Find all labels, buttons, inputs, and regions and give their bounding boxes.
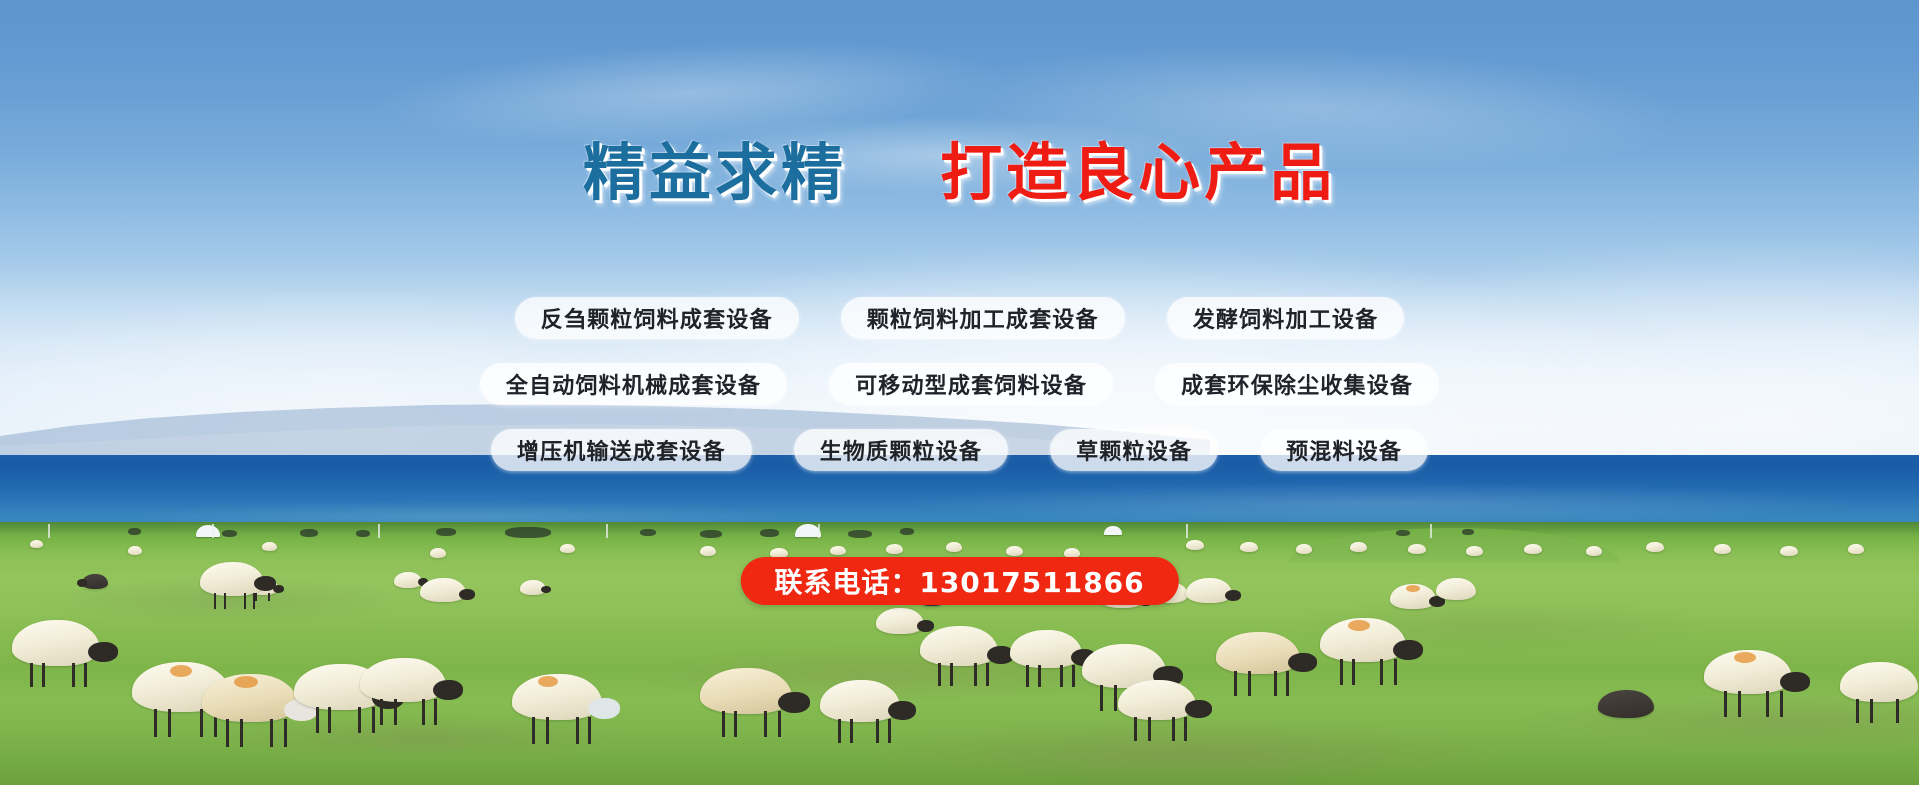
sheep (700, 668, 792, 714)
product-row-3: 增压机输送成套设备 生物质颗粒设备 草颗粒设备 预混料设备 (0, 429, 1919, 471)
distant-livestock (900, 528, 914, 535)
contact-phone-badge[interactable]: 联系电话：13017511866 (740, 557, 1178, 605)
distant-livestock (1462, 529, 1474, 535)
sheep (1840, 662, 1918, 702)
sheep (1598, 690, 1654, 718)
sheep (1350, 542, 1367, 552)
product-pill[interactable]: 全自动饲料机械成套设备 (480, 363, 787, 405)
headline-red-text: 打造良心产品 (940, 136, 1336, 209)
sheep (1216, 632, 1300, 674)
sheep (262, 542, 277, 551)
sheep (200, 562, 264, 596)
distant-livestock (1396, 530, 1410, 536)
sheep (1848, 544, 1864, 554)
product-row-2: 全自动饲料机械成套设备 可移动型成套饲料设备 成套环保除尘收集设备 (0, 363, 1919, 405)
product-pill[interactable]: 颗粒饲料加工成套设备 (841, 297, 1125, 339)
product-pill[interactable]: 生物质颗粒设备 (794, 429, 1008, 471)
promo-banner: 精益求精 打造良心产品 反刍颗粒饲料成套设备 颗粒饲料加工成套设备 发酵饲料加工… (0, 0, 1919, 785)
headline-blue-text: 精益求精 (583, 136, 847, 209)
product-row-1: 反刍颗粒饲料成套设备 颗粒饲料加工成套设备 发酵饲料加工设备 (0, 297, 1919, 339)
distant-livestock (300, 529, 318, 537)
sheep (1408, 544, 1426, 554)
sheep (202, 674, 298, 722)
sheep (430, 548, 446, 558)
sheep (830, 546, 846, 555)
product-pill[interactable]: 成套环保除尘收集设备 (1155, 363, 1439, 405)
fence-post (48, 524, 50, 538)
distant-livestock (848, 530, 872, 538)
sheep (1646, 542, 1664, 552)
sheep (12, 620, 100, 666)
sheep (82, 574, 108, 589)
fence-post (1186, 524, 1188, 538)
sheep (1296, 544, 1312, 554)
fence-post (212, 524, 214, 538)
sheep (360, 658, 446, 702)
product-pill[interactable]: 增压机输送成套设备 (491, 429, 752, 471)
distant-livestock (128, 528, 141, 535)
shoreline (0, 522, 1919, 540)
product-pill[interactable]: 反刍颗粒饲料成套设备 (515, 297, 799, 339)
distant-livestock (505, 527, 551, 538)
distant-livestock (356, 530, 370, 537)
distant-livestock (436, 528, 456, 536)
fence-post (606, 524, 608, 538)
sheep (886, 544, 903, 554)
product-category-list: 反刍颗粒饲料成套设备 颗粒饲料加工成套设备 发酵饲料加工设备 全自动饲料机械成套… (0, 297, 1919, 495)
distant-livestock (760, 529, 779, 537)
sheep (1466, 546, 1483, 556)
product-pill[interactable]: 发酵饲料加工设备 (1167, 297, 1405, 339)
sheep (420, 578, 466, 602)
product-pill[interactable]: 预混料设备 (1260, 429, 1428, 471)
page-title: 精益求精 打造良心产品 (0, 142, 1919, 204)
distant-livestock (222, 530, 237, 537)
sheep (1390, 584, 1436, 609)
sheep (820, 680, 900, 722)
sheep (1118, 680, 1196, 720)
fence-post (378, 524, 380, 538)
sheep (1010, 630, 1082, 668)
sheep (1714, 544, 1731, 554)
sheep (1704, 650, 1792, 694)
sheep (1186, 540, 1204, 550)
sheep (920, 626, 998, 666)
sheep (1780, 546, 1798, 556)
sheep (700, 546, 716, 556)
product-pill[interactable]: 可移动型成套饲料设备 (829, 363, 1113, 405)
distant-livestock (700, 530, 722, 538)
sheep (560, 544, 575, 553)
sheep (946, 542, 962, 552)
sheep (876, 608, 924, 634)
sheep (1186, 578, 1232, 603)
fence-post (1430, 524, 1432, 538)
product-pill[interactable]: 草颗粒设备 (1050, 429, 1218, 471)
sheep (128, 546, 142, 555)
sheep (1586, 546, 1602, 556)
fence-post (818, 524, 820, 538)
sheep (394, 572, 422, 588)
sheep (1240, 542, 1258, 552)
sheep (30, 540, 43, 548)
sheep (1524, 544, 1542, 554)
sheep (520, 580, 546, 595)
yurt-icon (1104, 526, 1122, 535)
sheep (1320, 618, 1406, 662)
distant-livestock (640, 529, 656, 536)
sheep (1436, 578, 1476, 600)
sheep (1006, 546, 1023, 556)
sheep (512, 674, 602, 720)
